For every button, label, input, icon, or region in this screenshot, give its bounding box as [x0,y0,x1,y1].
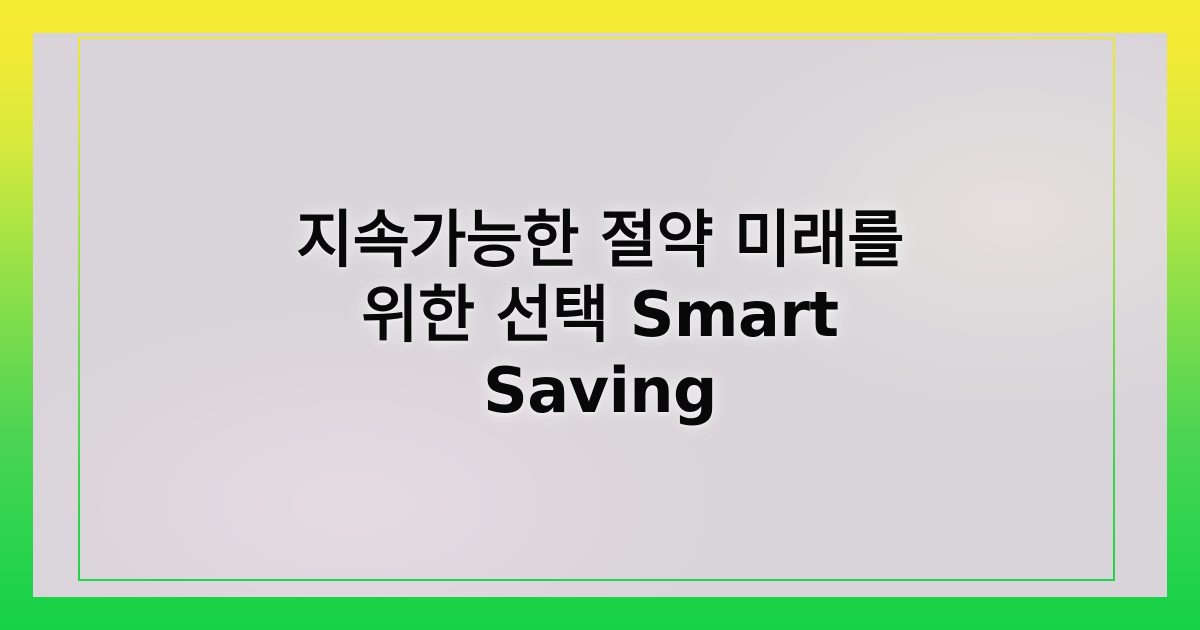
headline-line-3: Saving [483,354,717,427]
headline-line-2: 위한 선택 Smart [361,278,838,351]
page-title: 지속가능한 절약 미래를 위한 선택 Smart Saving [96,202,1104,429]
thumbnail-card: 지속가능한 절약 미래를 위한 선택 Smart Saving [0,0,1200,630]
headline-container: 지속가능한 절약 미래를 위한 선택 Smart Saving [0,0,1200,630]
headline-line-1: 지속가능한 절약 미래를 [296,203,904,276]
